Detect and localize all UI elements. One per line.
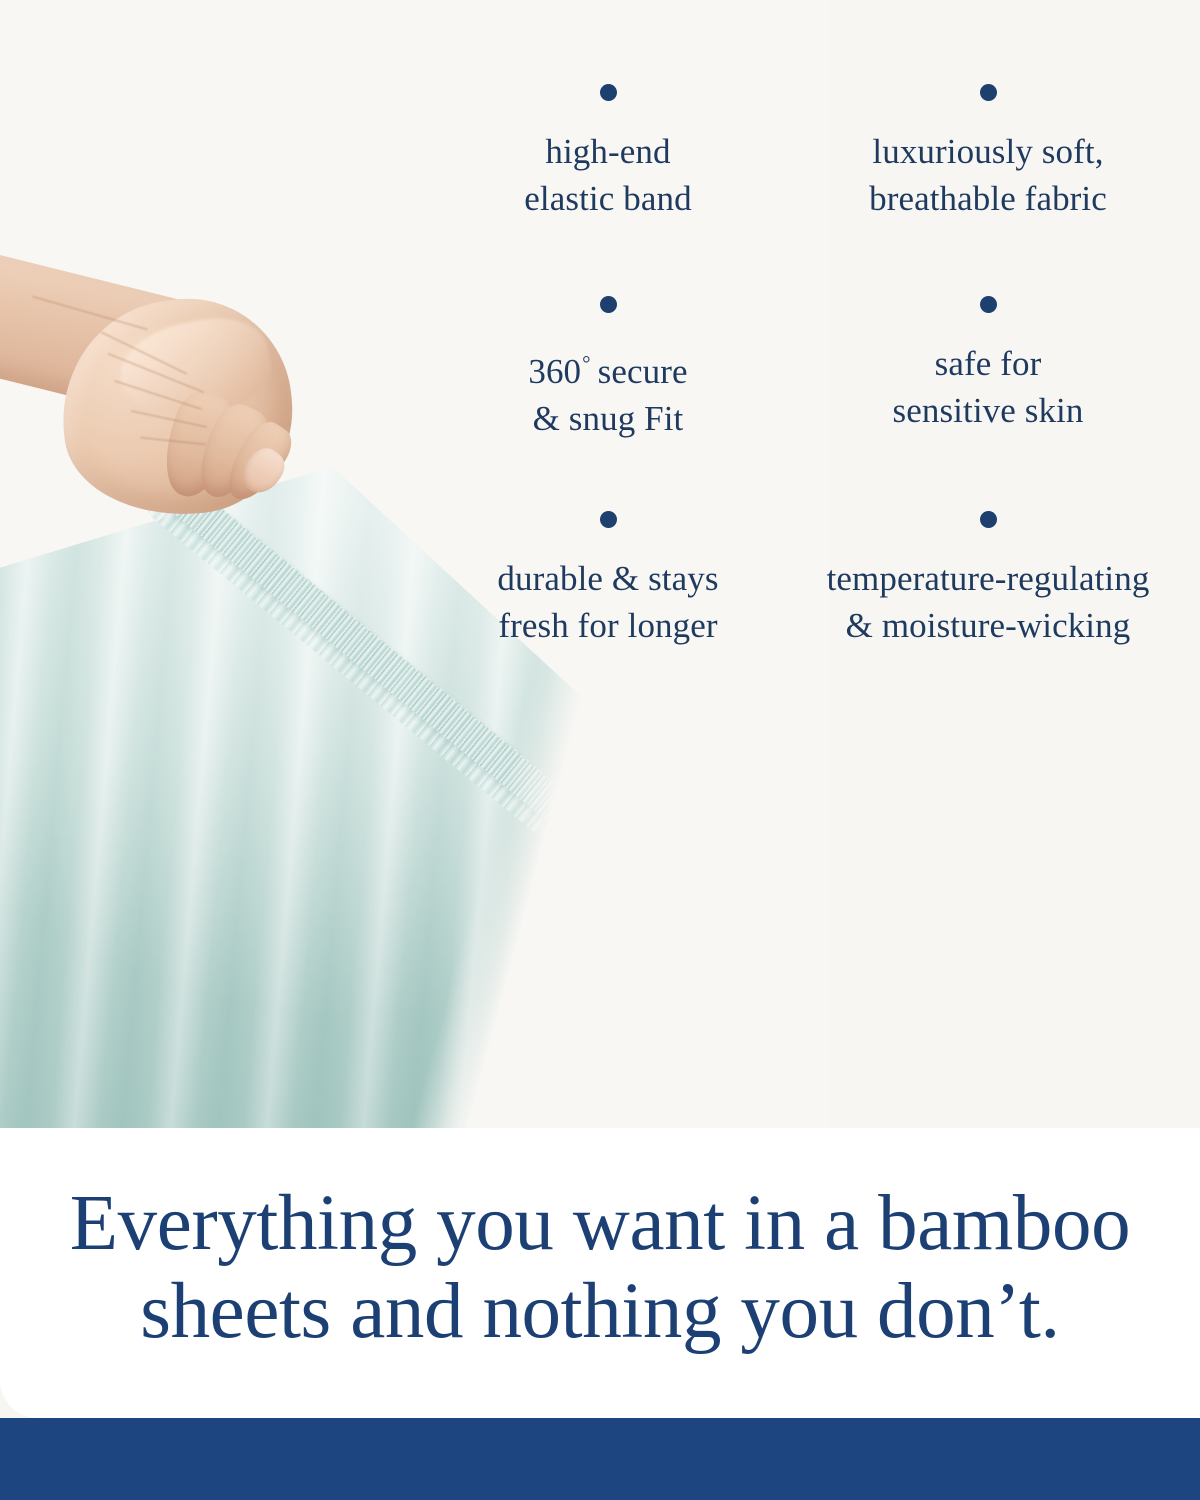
- bullet-dot-icon: [600, 296, 617, 313]
- bullet-dot-icon: [600, 84, 617, 101]
- feature-label-number: 360: [528, 352, 581, 391]
- bullet-dot-icon: [980, 511, 997, 528]
- degree-symbol-icon: °: [581, 351, 598, 375]
- bullet-dot-icon: [980, 296, 997, 313]
- feature-label: 360°secure & snug Fit: [528, 340, 687, 442]
- feature-high-end-elastic-band: high-end elastic band: [418, 84, 798, 296]
- bullet-dot-icon: [600, 511, 617, 528]
- feature-durable-stays-fresh: durable & stays fresh for longer: [418, 511, 798, 651]
- headline: Everything you want in a bamboo sheets a…: [0, 1180, 1200, 1356]
- feature-temperature-regulating: temperature-regulating & moisture-wickin…: [798, 511, 1178, 651]
- feature-360-secure-snug-fit: 360°secure & snug Fit: [418, 296, 798, 511]
- feature-luxuriously-soft-fabric: luxuriously soft, breathable fabric: [798, 84, 1178, 296]
- feature-row-1: high-end elastic band luxuriously soft, …: [418, 84, 1178, 296]
- feature-row-3: durable & stays fresh for longer tempera…: [418, 511, 1178, 651]
- feature-label: temperature-regulating & moisture-wickin…: [827, 555, 1150, 649]
- feature-label: high-end elastic band: [524, 128, 691, 222]
- footer-navy-band: [0, 1418, 1200, 1500]
- product-feature-banner: high-end elastic band luxuriously soft, …: [0, 0, 1200, 1500]
- feature-list: high-end elastic band luxuriously soft, …: [418, 84, 1178, 651]
- feature-label: luxuriously soft, breathable fabric: [869, 128, 1107, 222]
- feature-safe-for-sensitive-skin: safe for sensitive skin: [798, 296, 1178, 511]
- feature-row-2: 360°secure & snug Fit safe for sensitive…: [418, 296, 1178, 511]
- bullet-dot-icon: [980, 84, 997, 101]
- feature-label: safe for sensitive skin: [893, 340, 1084, 434]
- feature-label: durable & stays fresh for longer: [497, 555, 718, 649]
